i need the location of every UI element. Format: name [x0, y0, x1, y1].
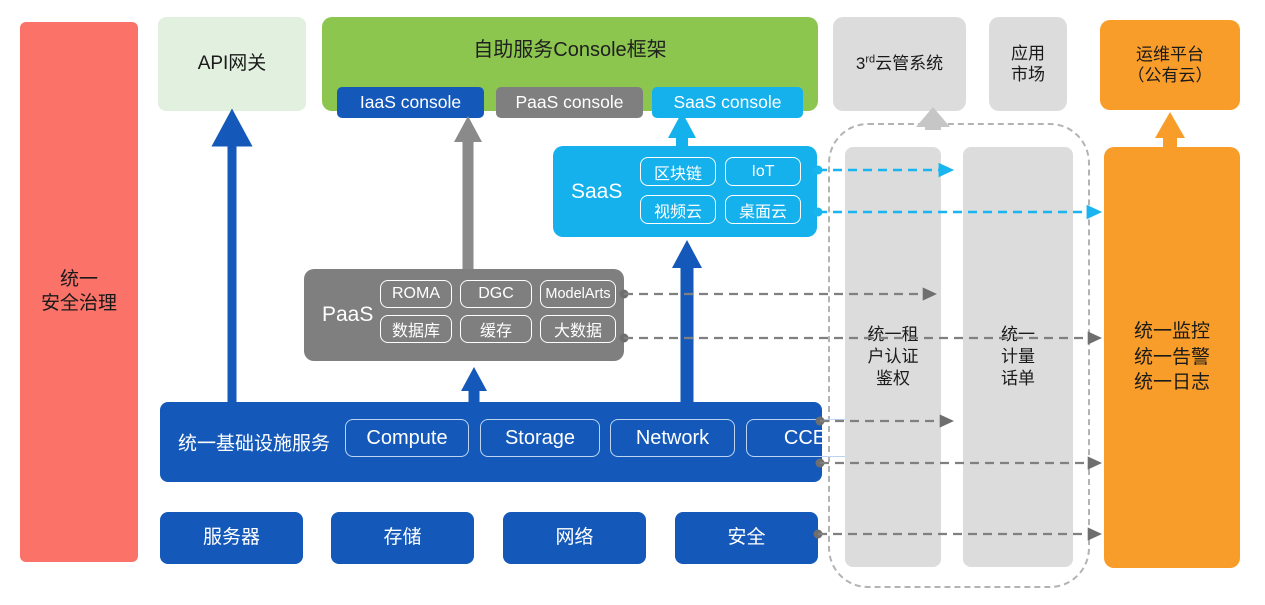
- saas-service-videocloud[interactable]: 视频云: [640, 195, 716, 224]
- third-party-cloud-label: 3rd云管系统: [856, 53, 943, 74]
- paas-service-modelarts[interactable]: ModelArts: [540, 280, 616, 308]
- saas-service-blockchain[interactable]: 区块链: [640, 157, 716, 186]
- security-governance-label: 统一 安全治理: [41, 268, 117, 316]
- hardware-box-security: 安全: [675, 512, 818, 564]
- arrow-infra-to-api-gateway: [219, 118, 245, 402]
- paas-service-label: ROMA: [392, 285, 440, 303]
- api-gateway-box: API网关: [158, 17, 306, 111]
- iaas-console-label: IaaS console: [360, 92, 461, 113]
- paas-console-label: PaaS console: [516, 92, 624, 113]
- ops-platform-top-box: 运维平台 （公有云）: [1100, 20, 1240, 110]
- paas-service-label: 大数据: [554, 317, 602, 341]
- third-party-cloud-box: 3rd云管系统: [833, 17, 966, 111]
- paas-panel: PaaS ROMA DGC ModelArts 数据库 缓存 大数据: [304, 269, 624, 361]
- ops-platform-side-panel: 统一监控 统一告警 统一日志: [1104, 147, 1240, 568]
- infra-service-compute[interactable]: Compute: [345, 419, 469, 457]
- infra-service-storage[interactable]: Storage: [480, 419, 600, 457]
- ops-platform-top-label: 运维平台 （公有云）: [1128, 44, 1213, 87]
- console-framework-panel: 自助服务Console框架 IaaS console PaaS console …: [322, 17, 818, 111]
- paas-service-label: ModelArts: [545, 286, 610, 302]
- unified-metering-label: 统一 计量 话单: [1001, 324, 1035, 390]
- infrastructure-label: 统一基础设施服务: [178, 429, 330, 456]
- paas-console-chip[interactable]: PaaS console: [496, 87, 643, 118]
- saas-console-label: SaaS console: [674, 92, 782, 113]
- app-market-box: 应用 市场: [989, 17, 1067, 111]
- infra-service-label: Network: [636, 427, 709, 450]
- hardware-label: 安全: [727, 526, 765, 550]
- hardware-label: 存储: [383, 526, 421, 550]
- unified-tenant-auth-label: 统一租 户认证 鉴权: [868, 324, 919, 390]
- hardware-box-network: 网络: [503, 512, 646, 564]
- paas-service-dgc[interactable]: DGC: [460, 280, 532, 308]
- arrow-infra-to-paas: [461, 367, 487, 402]
- arrow-paas-to-console: [454, 116, 482, 269]
- infra-service-network[interactable]: Network: [610, 419, 735, 457]
- api-gateway-label: API网关: [198, 52, 267, 76]
- saas-service-label: IoT: [751, 163, 774, 181]
- paas-service-cache[interactable]: 缓存: [460, 315, 532, 343]
- infra-service-label: Storage: [505, 427, 575, 450]
- saas-service-label: 区块链: [654, 160, 702, 184]
- saas-label: SaaS: [571, 180, 622, 204]
- hardware-label: 服务器: [203, 526, 260, 550]
- hardware-label: 网络: [555, 526, 593, 550]
- saas-console-chip[interactable]: SaaS console: [652, 87, 803, 118]
- paas-label: PaaS: [322, 303, 373, 327]
- arrow-infra-to-saas: [672, 240, 702, 402]
- ops-platform-side-label: 统一监控 统一告警 统一日志: [1134, 319, 1210, 396]
- saas-service-desktopcloud[interactable]: 桌面云: [725, 195, 801, 224]
- unified-tenant-auth-column: 统一租 户认证 鉴权: [845, 147, 941, 567]
- paas-service-label: DGC: [478, 285, 514, 303]
- paas-service-database[interactable]: 数据库: [380, 315, 452, 343]
- architecture-diagram: 统一 安全治理 API网关 自助服务Console框架 IaaS console…: [0, 0, 1265, 605]
- unified-metering-column: 统一 计量 话单: [963, 147, 1073, 567]
- paas-service-bigdata[interactable]: 大数据: [540, 315, 616, 343]
- security-governance-panel: 统一 安全治理: [20, 22, 138, 562]
- app-market-label: 应用 市场: [1011, 43, 1045, 86]
- paas-service-label: 数据库: [392, 317, 440, 341]
- hardware-box-storage: 存储: [331, 512, 474, 564]
- saas-service-label: 视频云: [654, 198, 702, 222]
- paas-service-label: 缓存: [480, 317, 512, 341]
- saas-service-label: 桌面云: [739, 198, 787, 222]
- infrastructure-bar: 统一基础设施服务 Compute Storage Network CCE: [160, 402, 822, 482]
- infra-service-label: Compute: [366, 427, 447, 450]
- infra-service-label: CCE: [784, 427, 826, 450]
- paas-service-roma[interactable]: ROMA: [380, 280, 452, 308]
- saas-service-iot[interactable]: IoT: [725, 157, 801, 186]
- saas-panel: SaaS 区块链 IoT 视频云 桌面云: [553, 146, 817, 237]
- arrow-ops-side-to-ops-top: [1155, 112, 1185, 147]
- iaas-console-chip[interactable]: IaaS console: [337, 87, 484, 118]
- console-framework-title: 自助服务Console框架: [322, 33, 818, 62]
- hardware-box-server: 服务器: [160, 512, 303, 564]
